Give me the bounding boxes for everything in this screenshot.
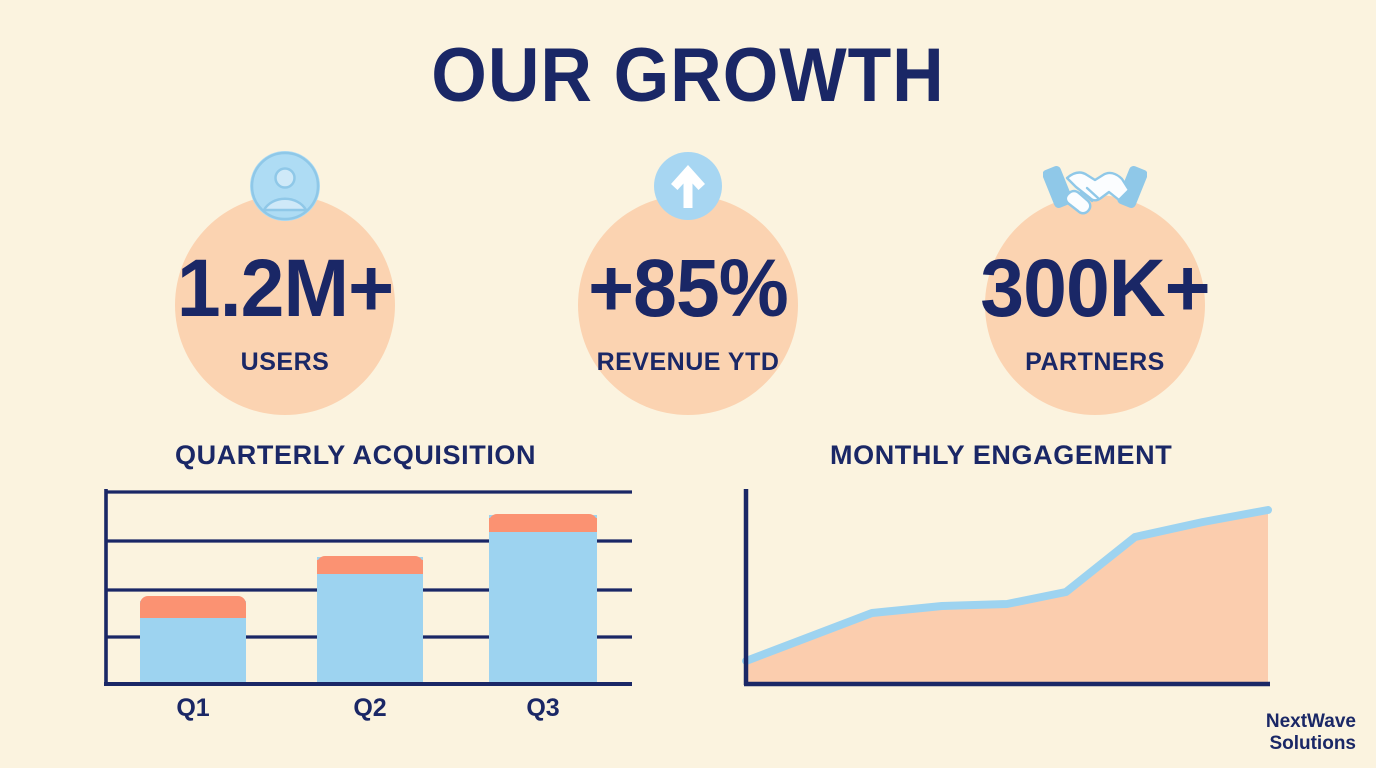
brand-line-2: Solutions	[1266, 733, 1356, 754]
bar-q2	[317, 556, 423, 684]
engagement-area-fill	[746, 510, 1268, 684]
brand-line-1: NextWave	[1266, 711, 1356, 732]
bar-q1	[140, 596, 246, 684]
bar-q3	[489, 514, 597, 684]
stat-label: REVENUE YTD	[478, 348, 898, 377]
stat-card-partners: 300K+ PARTNERS	[885, 150, 1305, 420]
bar-chart-title: QUARTERLY ACQUISITION	[175, 440, 536, 471]
arrow-up-icon	[652, 150, 724, 222]
brand-logo: NextWave Solutions	[1266, 711, 1356, 754]
infographic-canvas: OUR GROWTH 1.2M+ USERS +85% REVENUE YTD	[0, 0, 1376, 768]
bar-x-label-q2: Q2	[353, 694, 386, 722]
stat-value: +85%	[486, 248, 889, 330]
bar-x-label-q3: Q3	[526, 694, 559, 722]
stat-label: PARTNERS	[885, 348, 1305, 377]
bar-x-label-q1: Q1	[176, 694, 209, 722]
page-title: OUR GROWTH	[41, 38, 1334, 114]
stat-value: 300K+	[893, 248, 1296, 330]
line-chart-title: MONTHLY ENGAGEMENT	[830, 440, 1172, 471]
monthly-engagement-area-chart	[735, 480, 1285, 695]
stat-card-users: 1.2M+ USERS	[75, 150, 495, 420]
stat-value: 1.2M+	[83, 248, 486, 330]
handshake-icon	[1043, 154, 1147, 228]
stat-card-revenue: +85% REVENUE YTD	[478, 150, 898, 420]
quarterly-acquisition-bar-chart: Q1 Q2 Q3	[95, 480, 655, 730]
user-avatar-icon	[249, 150, 321, 222]
stat-label: USERS	[75, 348, 495, 377]
